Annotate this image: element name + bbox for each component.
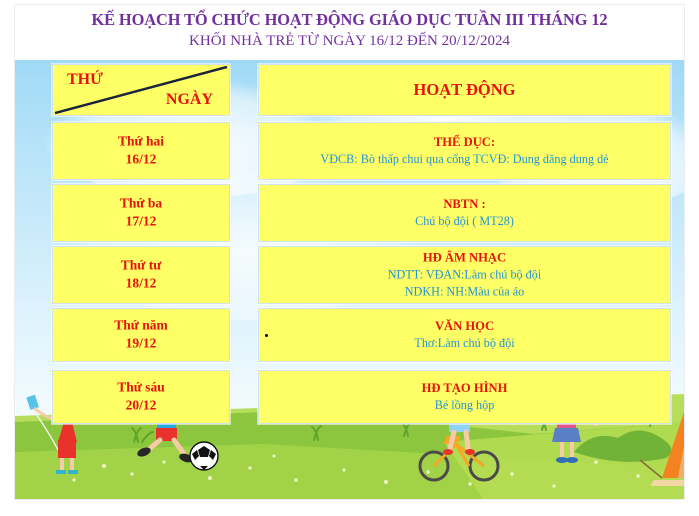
day-name: Thứ hai bbox=[53, 134, 229, 150]
day-name: Thứ tư bbox=[53, 258, 229, 274]
table-row: Thứ hai 16/12 bbox=[52, 122, 230, 180]
title-band: KẾ HOẠCH TỔ CHỨC HOẠT ĐỘNG GIÁO DỤC TUẦN… bbox=[14, 4, 685, 60]
schedule-table: THỨ NGÀY HOẠT ĐỘNG Thứ hai 16/12 THỂ DỤC… bbox=[14, 60, 685, 500]
activity-title: VĂN HỌC bbox=[265, 319, 664, 334]
day-date: 20/12 bbox=[53, 398, 229, 414]
slide-canvas: KẾ HOẠCH TỔ CHỨC HOẠT ĐỘNG GIÁO DỤC TUẦN… bbox=[14, 4, 685, 500]
activity-title: HĐ TẠO HÌNH bbox=[265, 381, 664, 396]
table-row: Thứ ba 17/12 bbox=[52, 184, 230, 242]
table-row: Thứ tư 18/12 bbox=[52, 246, 230, 304]
activity-cell: VĂN HỌC Thơ:Làm chú bộ đội bbox=[258, 308, 671, 362]
activity-title: NBTN : bbox=[265, 197, 664, 212]
activity-line: Bé lồng hộp bbox=[265, 398, 664, 413]
day-date: 19/12 bbox=[53, 336, 229, 352]
day-date: 17/12 bbox=[53, 214, 229, 230]
activity-cell: HĐ TẠO HÌNH Bé lồng hộp bbox=[258, 370, 671, 424]
activity-line: NDKH: NH:Màu của áo bbox=[265, 285, 664, 300]
activity-title: THỂ DỤC: bbox=[265, 135, 664, 150]
activity-cell: NBTN : Chú bộ đội ( MT28) bbox=[258, 184, 671, 242]
activity-cell: HĐ ÂM NHẠC NDTT: VĐAN:Làm chú bộ đội NDK… bbox=[258, 246, 671, 304]
day-name: Thứ ba bbox=[53, 196, 229, 212]
day-date: 18/12 bbox=[53, 276, 229, 292]
page-subtitle: KHỐI NHÀ TRẺ TỪ NGÀY 16/12 ĐẾN 20/12/202… bbox=[14, 33, 685, 50]
activity-title: HĐ ÂM NHẠC bbox=[265, 250, 664, 265]
slide-page: KẾ HOẠCH TỔ CHỨC HOẠT ĐỘNG GIÁO DỤC TUẦN… bbox=[0, 0, 699, 516]
table-row: Thứ sáu 20/12 bbox=[52, 370, 230, 424]
table-header-day-date-cell: THỨ NGÀY bbox=[52, 64, 230, 116]
page-title: KẾ HOẠCH TỔ CHỨC HOẠT ĐỘNG GIÁO DỤC TUẦN… bbox=[14, 10, 685, 30]
table-row: Thứ năm 19/12 bbox=[52, 308, 230, 362]
table-header-activity-cell: HOẠT ĐỘNG bbox=[258, 64, 671, 116]
day-name: Thứ sáu bbox=[53, 380, 229, 396]
activity-line: VĐCB: Bò thấp chui qua cổng TCVĐ: Dung d… bbox=[265, 152, 664, 167]
activity-line: Thơ:Làm chú bộ đội bbox=[265, 336, 664, 351]
column-header-activity: HOẠT ĐỘNG bbox=[259, 80, 670, 100]
day-date: 16/12 bbox=[53, 152, 229, 168]
column-header-day: THỨ bbox=[67, 70, 103, 90]
activity-line: NDTT: VĐAN:Làm chú bộ đội bbox=[265, 268, 664, 283]
day-name: Thứ năm bbox=[53, 318, 229, 334]
activity-line: Chú bộ đội ( MT28) bbox=[265, 214, 664, 229]
column-header-date: NGÀY bbox=[166, 90, 213, 110]
activity-cell: THỂ DỤC: VĐCB: Bò thấp chui qua cổng TCV… bbox=[258, 122, 671, 180]
